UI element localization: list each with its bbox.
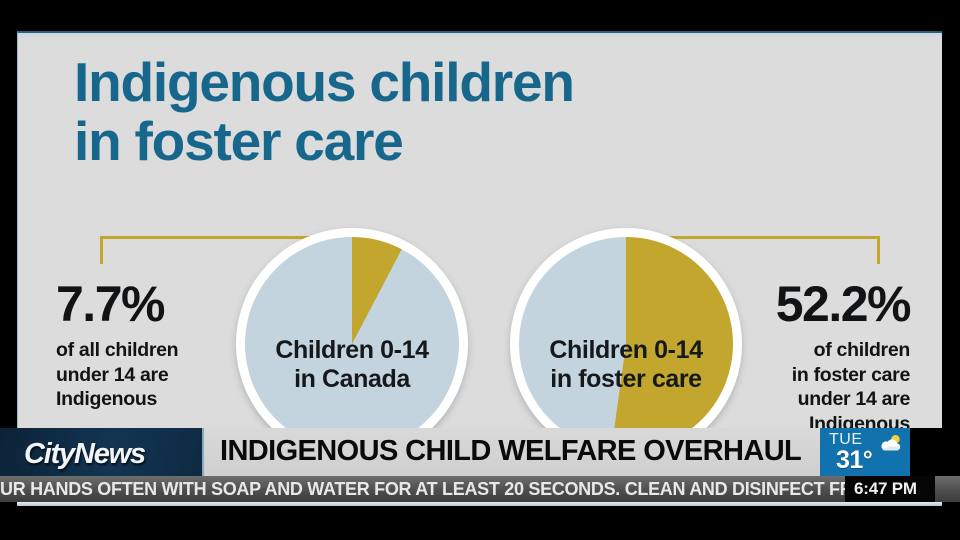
infographic-title-line-2: in foster care: [74, 112, 834, 171]
stat-desc-line-3: under 14 are: [720, 387, 910, 412]
headline-box: INDIGENOUS CHILD WELFARE OVERHAUL: [202, 428, 820, 476]
infographic-title-line-1: Indigenous children: [74, 53, 834, 112]
stat-block-foster-care: 52.2% of children in foster care under 1…: [720, 279, 910, 428]
stat-desc-line-2: under 14 are: [56, 363, 231, 388]
pie-chart-canada: Children 0-14 in Canada: [236, 228, 468, 428]
broadcast-screen: Indigenous children in foster care 7.7% …: [0, 0, 960, 540]
clock-text: 6:47 PM: [854, 479, 917, 499]
sun-behind-cloud-icon: [878, 434, 904, 452]
ticker-text: UR HANDS OFTEN WITH SOAP AND WATER FOR A…: [0, 479, 902, 500]
news-ticker: UR HANDS OFTEN WITH SOAP AND WATER FOR A…: [0, 476, 960, 502]
infographic-title: Indigenous children in foster care: [74, 53, 834, 171]
pie-canada-label: Children 0-14 in Canada: [236, 336, 468, 394]
bottom-letterbox: [0, 506, 960, 540]
stat-percent-canada: 7.7%: [56, 279, 231, 329]
bracket-left-tick: [100, 238, 103, 264]
pie-foster-label: Children 0-14 in foster care: [510, 336, 742, 394]
stat-block-canada: 7.7% of all children under 14 are Indige…: [56, 279, 231, 412]
panel-sheen: [18, 33, 942, 39]
headline-text: INDIGENOUS CHILD WELFARE OVERHAUL: [220, 435, 810, 468]
pie-chart-foster-care: Children 0-14 in foster care: [510, 228, 742, 428]
citynews-logo-text: CityNews: [24, 438, 145, 471]
stat-description-canada: of all children under 14 are Indigenous: [56, 338, 231, 412]
stat-desc-line-2: in foster care: [720, 363, 910, 388]
stat-percent-foster-care: 52.2%: [720, 279, 910, 329]
weather-widget[interactable]: TUE 31°: [820, 428, 910, 476]
lower-third-banner: CityNews INDIGENOUS CHILD WELFARE OVERHA…: [0, 428, 960, 476]
stat-desc-line-1: of all children: [56, 338, 231, 363]
pie-canada-label-line-1: Children 0-14: [236, 336, 468, 365]
stat-desc-line-3: Indigenous: [56, 387, 231, 412]
clock-box: 6:47 PM: [845, 476, 935, 502]
stat-desc-line-4: Indigenous: [720, 412, 910, 428]
pie-canada-label-line-2: in Canada: [236, 365, 468, 394]
stat-description-foster-care: of children in foster care under 14 are …: [720, 338, 910, 428]
bracket-right-tick: [877, 238, 880, 264]
pie-foster-label-line-1: Children 0-14: [510, 336, 742, 365]
pie-foster-label-line-2: in foster care: [510, 365, 742, 394]
infographic-panel: Indigenous children in foster care 7.7% …: [17, 31, 942, 428]
weather-temperature: 31°: [836, 446, 872, 475]
stat-desc-line-1: of children: [720, 338, 910, 363]
citynews-logo-box: CityNews: [0, 428, 202, 476]
